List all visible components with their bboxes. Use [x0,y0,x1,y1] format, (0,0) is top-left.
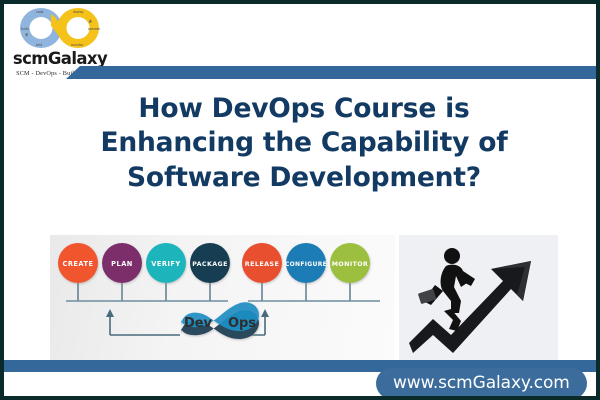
svg-text:monitor: monitor [71,43,84,47]
svg-text:PLAN: PLAN [111,260,133,268]
svg-text:CONFIGURE: CONFIGURE [285,261,327,268]
svg-text:RELEASE: RELEASE [245,260,279,268]
svg-text:PACKAGE: PACKAGE [192,261,228,268]
banner-root: code build test deploy operate monitor s… [0,0,600,400]
page-title: How DevOps Course is Enhancing the Capab… [54,92,554,195]
brand-logo[interactable]: code build test deploy operate monitor s… [12,6,108,76]
top-accent-band [66,66,600,79]
svg-text:MONITOR: MONITOR [332,261,369,268]
loop-label-ops: Ops [228,316,256,331]
svg-text:build: build [21,27,29,31]
growth-illustration [399,235,558,360]
running-businessman-up-arrow-icon [399,235,558,360]
stage-node-release: RELEASE [242,243,282,283]
stage-node-verify: VERIFY [146,243,186,283]
pipeline-stage-nodes: CREATE PLAN VERIFY PACKAGE [58,243,370,283]
svg-text:VERIFY: VERIFY [151,260,180,268]
svg-text:operate: operate [88,27,100,31]
title-line-2: Enhancing the Capability of [54,126,554,160]
pipeline-svg: Dev Ops CREATE PLAN VERIFY [50,235,395,360]
stage-node-create: CREATE [58,243,98,283]
devops-pipeline-diagram: Dev Ops CREATE PLAN VERIFY [50,235,395,360]
website-url-pill[interactable]: www.scmGalaxy.com [376,368,587,399]
artwork-row: Dev Ops CREATE PLAN VERIFY [50,235,558,363]
up-arrow-shape [409,261,531,353]
stage-node-plan: PLAN [102,243,142,283]
svg-text:CREATE: CREATE [62,260,93,268]
stage-node-package: PACKAGE [190,243,230,283]
svg-text:code: code [36,10,44,14]
title-line-3: Software Development? [54,161,554,195]
stage-node-configure: CONFIGURE [285,243,327,283]
devops-infinity-loop-icon: code build test deploy operate monitor [18,6,102,50]
loop-label-dev: Dev [184,316,213,331]
svg-text:test: test [36,43,43,47]
stage-stems [78,283,350,301]
title-line-1: How DevOps Course is [54,92,554,126]
brand-wordmark: scmGalaxy [12,51,108,68]
svg-text:deploy: deploy [73,10,84,14]
stage-node-monitor: MONITOR [330,243,370,283]
